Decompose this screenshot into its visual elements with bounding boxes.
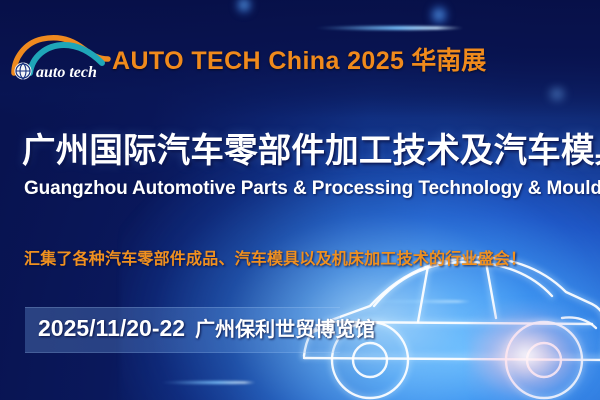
light-streak-icon: [352, 300, 472, 303]
kicker-en: AUTO TECH China 2025: [112, 47, 404, 75]
event-date: 2025/11/20-22: [38, 315, 185, 341]
auto-tech-logo: auto tech: [8, 33, 116, 85]
logo-wordmark: auto tech: [36, 64, 97, 81]
light-spot-icon: [430, 2, 448, 28]
kicker-cn: 华南展: [404, 47, 486, 75]
page-subtitle: Guangzhou Automotive Parts & Processing …: [24, 178, 600, 200]
page-title: 广州国际汽车零部件加工技术及汽车模具展览会: [22, 123, 600, 172]
headlight-glow: [468, 300, 598, 400]
light-streak-icon: [314, 26, 464, 30]
expo-banner: auto tech AUTO TECH China 2025 华南展 广州国际汽…: [0, 0, 600, 400]
event-venue: 广州保利世贸博览馆: [195, 319, 375, 341]
date-venue-text: 2025/11/20-22广州保利世贸博览馆: [38, 313, 375, 342]
light-streak-icon: [160, 381, 256, 384]
event-kicker: AUTO TECH China 2025 华南展: [112, 41, 486, 77]
event-tagline: 汇集了各种汽车零部件成品、汽车模具以及机床加工技术的行业盛会！: [24, 245, 526, 269]
light-spot-icon: [544, 86, 570, 102]
